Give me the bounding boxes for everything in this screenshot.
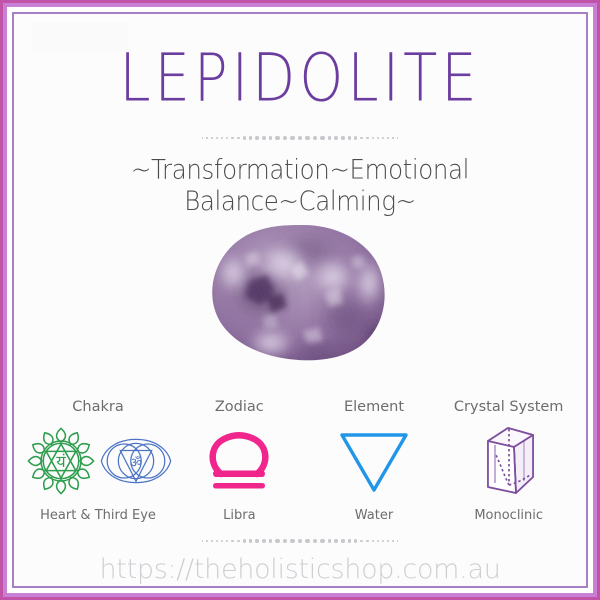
divider-dot bbox=[202, 137, 203, 138]
divider-dot bbox=[269, 136, 273, 140]
divider-dot bbox=[397, 137, 398, 138]
divider-dot bbox=[262, 539, 266, 543]
dot-divider-top bbox=[14, 132, 586, 144]
divider-dot bbox=[382, 540, 384, 542]
divider-dot bbox=[255, 136, 259, 140]
divider-dot bbox=[334, 136, 338, 140]
libra-zodiac-icon bbox=[204, 428, 274, 494]
attribute-icon-element bbox=[338, 423, 410, 499]
divider-dot bbox=[211, 137, 213, 139]
site-url-watermark: https://theholisticshop.com.au bbox=[14, 554, 586, 585]
attribute-value-crystal-system: Monoclinic bbox=[474, 508, 543, 523]
attribute-icon-chakra: यं bbox=[24, 423, 172, 499]
divider-dot bbox=[366, 540, 369, 543]
monoclinic-crystal-icon bbox=[478, 423, 540, 499]
attribute-crystal-system: Crystal System bbox=[441, 399, 576, 523]
divider-dot bbox=[392, 137, 394, 139]
divider-dot bbox=[377, 137, 379, 139]
attribute-element: Element Water bbox=[307, 399, 442, 523]
divider-dot bbox=[348, 136, 351, 139]
lepidolite-tumbled-stone bbox=[205, 221, 395, 363]
divider-dot bbox=[360, 137, 363, 140]
divider-dot bbox=[377, 540, 379, 542]
divider-dot bbox=[305, 539, 310, 544]
divider-dot bbox=[348, 539, 351, 542]
attribute-title-element: Element bbox=[344, 399, 404, 415]
divider-dot bbox=[249, 539, 252, 542]
water-element-icon bbox=[338, 428, 410, 494]
divider-dot bbox=[313, 539, 317, 543]
divider-dot bbox=[313, 136, 317, 140]
divider-dot bbox=[262, 136, 266, 140]
stone-image-container bbox=[14, 219, 586, 364]
divider-dot bbox=[341, 539, 345, 543]
divider-dot bbox=[221, 137, 223, 139]
attribute-zodiac: Zodiac Libra bbox=[172, 399, 307, 523]
divider-dot bbox=[397, 540, 398, 541]
divider-dot bbox=[305, 136, 310, 141]
dot-divider-bottom bbox=[14, 535, 586, 547]
divider-dot bbox=[269, 539, 273, 543]
divider-dot bbox=[392, 540, 394, 542]
divider-dot bbox=[354, 136, 357, 139]
attribute-title-chakra: Chakra bbox=[72, 399, 123, 415]
third-eye-chakra-om-glyph: ॐ bbox=[130, 455, 142, 471]
divider-dot bbox=[372, 137, 374, 139]
divider-dot bbox=[341, 136, 345, 140]
divider-dot bbox=[243, 539, 246, 542]
divider-dot bbox=[275, 136, 279, 140]
divider-dot bbox=[216, 137, 218, 139]
attribute-title-zodiac: Zodiac bbox=[215, 399, 264, 415]
divider-dot bbox=[387, 137, 389, 139]
divider-dot bbox=[211, 540, 213, 542]
attribute-title-crystal-system: Crystal System bbox=[454, 399, 564, 415]
attribute-value-element: Water bbox=[355, 508, 393, 523]
divider-dot bbox=[298, 539, 303, 544]
border-mid-ring: LEPIDOLITE ~Transformation~Emotional Bal… bbox=[3, 3, 597, 597]
third-eye-chakra-icon: ॐ bbox=[100, 430, 172, 492]
attribute-value-chakra: Heart & Third Eye bbox=[40, 508, 156, 523]
heart-chakra-icon: यं bbox=[24, 424, 98, 498]
divider-dot bbox=[249, 136, 252, 139]
divider-dot bbox=[328, 136, 332, 140]
divider-dot bbox=[320, 539, 324, 543]
divider-dot bbox=[334, 539, 338, 543]
divider-dot bbox=[320, 136, 324, 140]
card-canvas: LEPIDOLITE ~Transformation~Emotional Bal… bbox=[14, 14, 586, 586]
attribute-row: Chakra bbox=[24, 399, 576, 523]
page-title: LEPIDOLITE bbox=[14, 46, 586, 112]
heart-chakra-bija-glyph: यं bbox=[56, 452, 66, 471]
divider-dot bbox=[298, 136, 303, 141]
divider-dot bbox=[328, 539, 332, 543]
divider-dot bbox=[255, 539, 259, 543]
divider-dot bbox=[206, 540, 208, 542]
divider-dot bbox=[372, 540, 374, 542]
divider-dot bbox=[382, 137, 384, 139]
divider-dot bbox=[231, 137, 234, 140]
divider-dot bbox=[243, 136, 246, 139]
attribute-icon-zodiac bbox=[204, 423, 274, 499]
divider-dot bbox=[216, 540, 218, 542]
divider-dot bbox=[226, 540, 228, 542]
attribute-icon-crystal-system bbox=[478, 423, 540, 499]
divider-dot bbox=[226, 137, 228, 139]
divider-dot bbox=[206, 137, 208, 139]
divider-dot bbox=[366, 137, 369, 140]
divider-dot bbox=[237, 137, 240, 140]
divider-dot bbox=[354, 539, 357, 542]
divider-dot bbox=[202, 540, 203, 541]
divider-dot bbox=[237, 540, 240, 543]
attribute-value-zodiac: Libra bbox=[223, 508, 255, 523]
divider-dot bbox=[290, 539, 295, 544]
divider-dot bbox=[283, 539, 287, 543]
divider-dot bbox=[275, 539, 279, 543]
divider-dot bbox=[231, 540, 234, 543]
attribute-chakra: Chakra bbox=[24, 399, 172, 523]
tagline: ~Transformation~Emotional Balance~Calmin… bbox=[20, 154, 581, 217]
divider-dot bbox=[360, 540, 363, 543]
divider-dot bbox=[387, 540, 389, 542]
divider-dot bbox=[283, 136, 287, 140]
border-white-gap: LEPIDOLITE ~Transformation~Emotional Bal… bbox=[7, 7, 593, 593]
divider-dot bbox=[290, 136, 295, 141]
infographic-card: LEPIDOLITE ~Transformation~Emotional Bal… bbox=[0, 0, 600, 600]
border-inner-line: LEPIDOLITE ~Transformation~Emotional Bal… bbox=[12, 12, 588, 588]
divider-dot bbox=[221, 540, 223, 542]
